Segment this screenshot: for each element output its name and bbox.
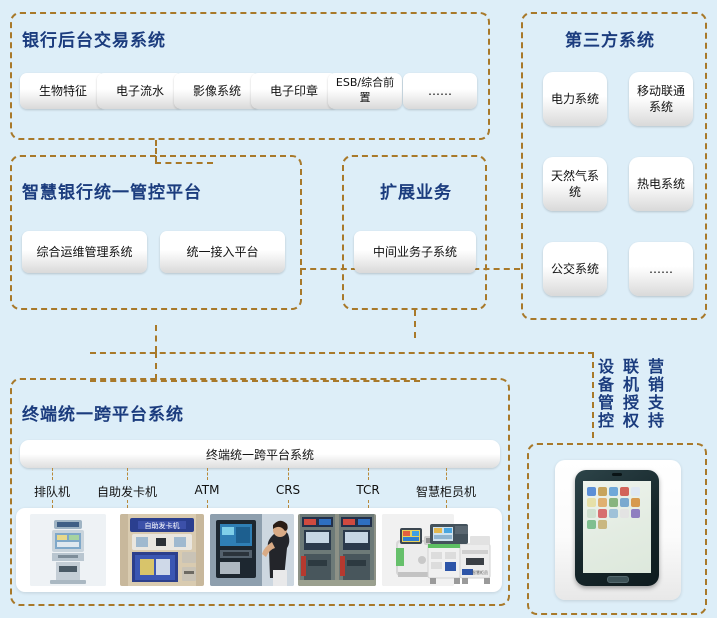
tablet-app-icon[interactable] (598, 509, 607, 518)
connector-device-4 (368, 468, 369, 480)
connector-device-5 (446, 468, 447, 480)
device-photo-card-issuer: 自助发卡机 (120, 514, 204, 586)
group-terminal-platform-title: 终端统一跨平台系统 (22, 400, 184, 425)
tablet-app-icon[interactable] (620, 498, 629, 507)
tablet-app-icon[interactable] (587, 498, 596, 507)
chip-power-system[interactable]: 电力系统 (543, 72, 607, 126)
architecture-diagram: 银行后台交易系统 生物特征 电子流水 影像系统 电子印章 ESB/综合前置 ……… (0, 0, 717, 618)
tablet-app-icon[interactable] (587, 520, 596, 529)
side-label-marketing-support: 营销支持 (646, 358, 662, 430)
chip-mobile-unicom-system[interactable]: 移动联通系统 (629, 72, 693, 126)
device-label-crs: CRS (276, 483, 300, 497)
chip-ops-management-system[interactable]: 综合运维管理系统 (22, 231, 147, 273)
tablet-app-icon[interactable] (609, 509, 618, 518)
tablet-app-icon[interactable] (598, 498, 607, 507)
group-third-party-title: 第三方系统 (565, 26, 655, 51)
chip-e-statement[interactable]: 电子流水 (97, 73, 183, 109)
device-photo-atm (210, 514, 294, 586)
connector-extended-to-bus (414, 310, 416, 338)
tablet-app-icon[interactable] (609, 498, 618, 507)
chip-e-seal[interactable]: 电子印章 (251, 73, 337, 109)
chip-natural-gas-system[interactable]: 天然气系统 (543, 157, 607, 211)
tablet-app-icon[interactable] (631, 509, 640, 518)
tablet-app-icon[interactable] (598, 487, 607, 496)
device-photo-queue-machine (30, 514, 106, 586)
connector-device-3-lower (288, 500, 289, 508)
tablet-app-icon[interactable] (587, 487, 596, 496)
tablet-app-icon[interactable] (587, 509, 596, 518)
connector-device-1-lower (127, 500, 128, 508)
tablet-app-grid (587, 487, 647, 529)
chip-esb-frontend[interactable]: ESB/综合前置 (328, 73, 402, 109)
chip-biometrics[interactable]: 生物特征 (20, 73, 106, 109)
connector-device-0-lower (52, 500, 53, 508)
connector-bus-down-to-terminal-box (155, 352, 157, 380)
tablet-home-button[interactable] (607, 576, 629, 583)
chip-imaging-system[interactable]: 影像系统 (174, 73, 260, 109)
connector-device-1 (127, 468, 128, 480)
svg-text:智慧柜员: 智慧柜员 (472, 569, 488, 575)
connector-bus-right-down (592, 352, 594, 438)
device-photo-smart-teller-full: 智慧柜员 (416, 514, 498, 586)
connector-device-5-lower (446, 500, 447, 508)
connector-device-4-lower (368, 500, 369, 508)
connector-device-3 (288, 468, 289, 480)
terminal-platform-bar[interactable]: 终端统一跨平台系统 (20, 440, 500, 468)
group-extended-business-title: 扩展业务 (380, 178, 452, 203)
side-capability-labels: 设备管控 联机授权 营销支持 (596, 358, 662, 430)
tablet-app-icon[interactable] (620, 509, 629, 518)
connector-device-2-lower (207, 500, 208, 508)
connector-device-2 (207, 468, 208, 480)
chip-backoffice-more[interactable]: …… (403, 73, 477, 109)
chip-third-party-more[interactable]: …… (629, 242, 693, 296)
connector-bus-to-terminal (155, 325, 157, 352)
device-label-atm: ATM (195, 483, 220, 497)
device-label-tcr: TCR (356, 483, 379, 497)
tablet-camera-icon (612, 473, 622, 476)
group-unified-platform-title: 智慧银行统一管控平台 (22, 178, 202, 203)
tablet-app-icon[interactable] (598, 520, 607, 529)
device-photo-strip: 自助发卡机 (16, 508, 502, 592)
device-label-queue-machine: 排队机 (34, 483, 70, 500)
svg-text:自助发卡机: 自助发卡机 (145, 521, 180, 530)
tablet-app-icon[interactable] (620, 487, 629, 496)
device-label-card-issuer: 自助发卡机 (97, 483, 157, 500)
tablet-app-icon[interactable] (631, 498, 640, 507)
connector-device-0 (52, 468, 53, 480)
tablet-app-icon[interactable] (609, 487, 618, 496)
tablet-app-icon[interactable] (631, 487, 640, 496)
connector-main-bus-horizontal (90, 352, 594, 354)
chip-thermal-power-system[interactable]: 热电系统 (629, 157, 693, 211)
side-label-device-control: 设备管控 (596, 358, 612, 430)
device-label-smart-teller: 智慧柜员机 (416, 483, 476, 500)
group-bank-backoffice-title: 银行后台交易系统 (22, 26, 166, 51)
chip-unified-access-platform[interactable]: 统一接入平台 (160, 231, 285, 273)
side-label-online-auth: 联机授权 (621, 358, 637, 430)
tablet-screen (583, 481, 651, 573)
chip-intermediate-business-subsystem[interactable]: 中间业务子系统 (354, 231, 476, 273)
chip-public-transit-system[interactable]: 公交系统 (543, 242, 607, 296)
device-photo-crs (298, 514, 376, 586)
